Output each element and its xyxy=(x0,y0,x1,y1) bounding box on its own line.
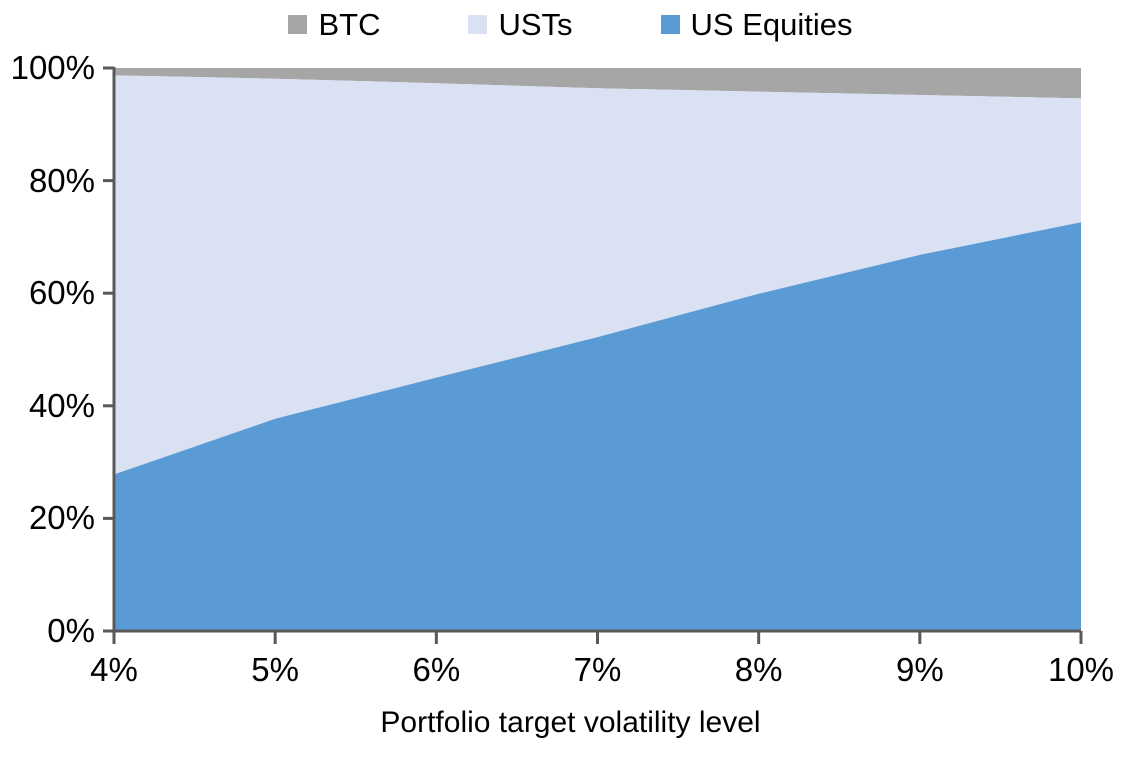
x-axis-tick-label: 10% xyxy=(1021,653,1141,686)
x-axis-tick-label: 4% xyxy=(54,653,174,686)
series-layer xyxy=(114,68,1081,631)
plot-svg xyxy=(0,0,1141,763)
x-axis-tick-label: 8% xyxy=(699,653,819,686)
x-axis-tick-label: 9% xyxy=(860,653,980,686)
y-axis-tick-label: 80% xyxy=(0,164,95,197)
plot-area: 0%20%40%60%80%100% 4%5%6%7%8%9%10% xyxy=(0,0,1141,763)
y-axis-tick-label: 0% xyxy=(0,614,95,647)
x-axis-tick-label: 5% xyxy=(215,653,335,686)
x-axis-tick-label: 6% xyxy=(376,653,496,686)
y-axis-tick-label: 60% xyxy=(0,276,95,309)
x-axis-title: Portfolio target volatility level xyxy=(0,706,1141,740)
y-axis-tick-label: 20% xyxy=(0,501,95,534)
stacked-area-chart: BTC USTs US Equities 0%20%40%60%80%100% … xyxy=(0,0,1141,763)
x-axis-tick-label: 7% xyxy=(538,653,658,686)
y-axis-tick-label: 100% xyxy=(0,51,95,84)
y-axis-tick-label: 40% xyxy=(0,389,95,422)
